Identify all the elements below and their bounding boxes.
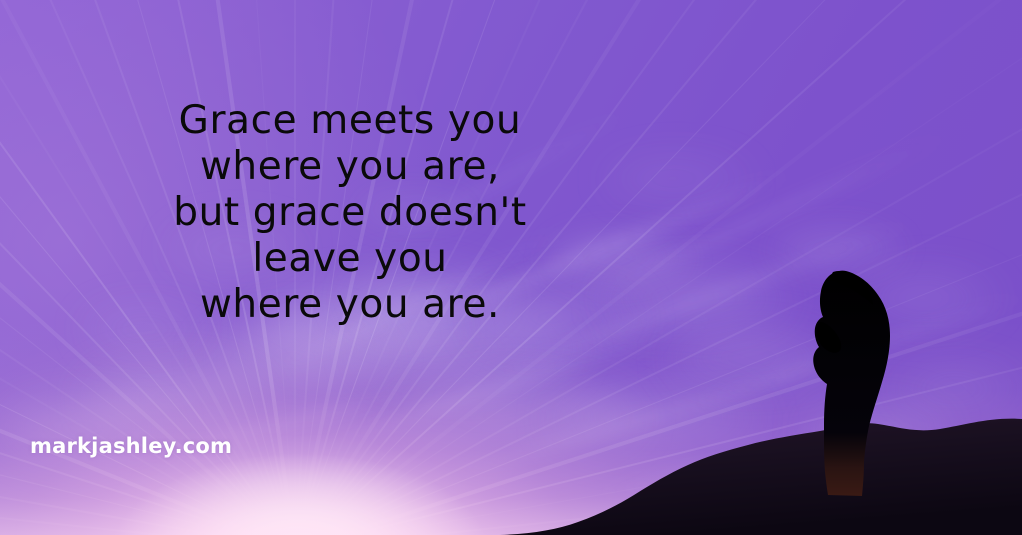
quote-text: Grace meets you where you are, but grace… [0,98,700,328]
watermark-text: markjashley.com [30,434,232,458]
quote-image: Grace meets you where you are, but grace… [0,0,1022,535]
cloud-puff [205,320,395,400]
praying-person-silhouette [770,250,940,510]
